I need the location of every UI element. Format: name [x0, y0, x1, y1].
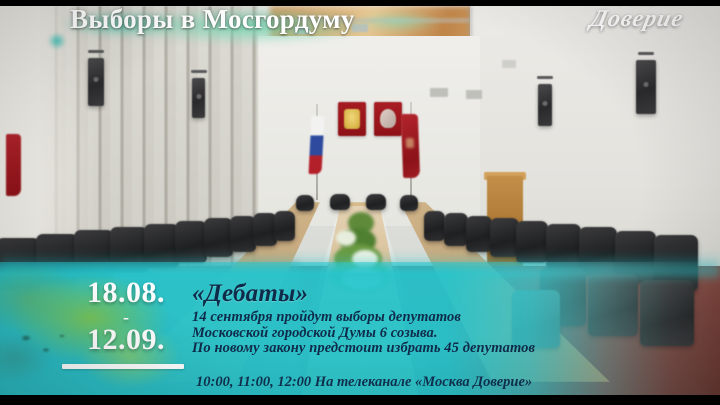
wall-speaker-icon [88, 58, 104, 106]
chair [424, 211, 445, 241]
letterbox-top [0, 0, 720, 6]
description-line: Московской городской Думы 6 созыва. [192, 326, 535, 342]
chair [274, 211, 295, 241]
chair [490, 218, 519, 257]
chair [366, 194, 386, 210]
letterbox-bottom [0, 395, 720, 405]
chair [296, 195, 314, 211]
program-description: 14 сентября пройдут выборы депутатов Мос… [192, 310, 535, 357]
wall-vent [502, 60, 516, 68]
chair [400, 195, 418, 211]
wall-speaker-icon [192, 78, 205, 118]
video-frame: Выборы в Мосгордуму МОСКВА Доверие 18.08… [0, 0, 720, 405]
description-line: 14 сентября пройдут выборы депутатов [192, 310, 535, 326]
coat-of-arms-moscow-icon [374, 102, 402, 136]
date-range: 18.08. - 12.09. [58, 278, 194, 355]
channel-logo-script: Доверие [559, 6, 715, 33]
table-flower [336, 230, 356, 246]
wall-speaker-icon [636, 60, 656, 114]
date-underline-rule [62, 364, 184, 369]
coat-of-arms-russia-icon [338, 102, 366, 136]
flag-moscow-icon [401, 114, 420, 178]
date-start: 18.08. [58, 278, 194, 308]
date-end: 12.09. [58, 325, 194, 355]
title-brush-tail [44, 28, 70, 54]
program-caption: «Дебаты» 14 сентября пройдут выборы депу… [192, 281, 535, 357]
description-line: По новому закону предстоит избрать 45 де… [192, 341, 535, 357]
chair [330, 194, 350, 210]
wall-vent [430, 88, 448, 97]
flag-side-icon [6, 134, 21, 196]
program-title: «Дебаты» [192, 281, 535, 307]
chair [466, 216, 492, 252]
airtime-line: 10:00, 11:00, 12:00 На телеканале «Москв… [196, 374, 532, 391]
chair [444, 213, 468, 246]
banner-title: Выборы в Мосгордуму [70, 4, 355, 35]
wall-vent [466, 90, 482, 99]
wall-speaker-icon [538, 84, 552, 126]
